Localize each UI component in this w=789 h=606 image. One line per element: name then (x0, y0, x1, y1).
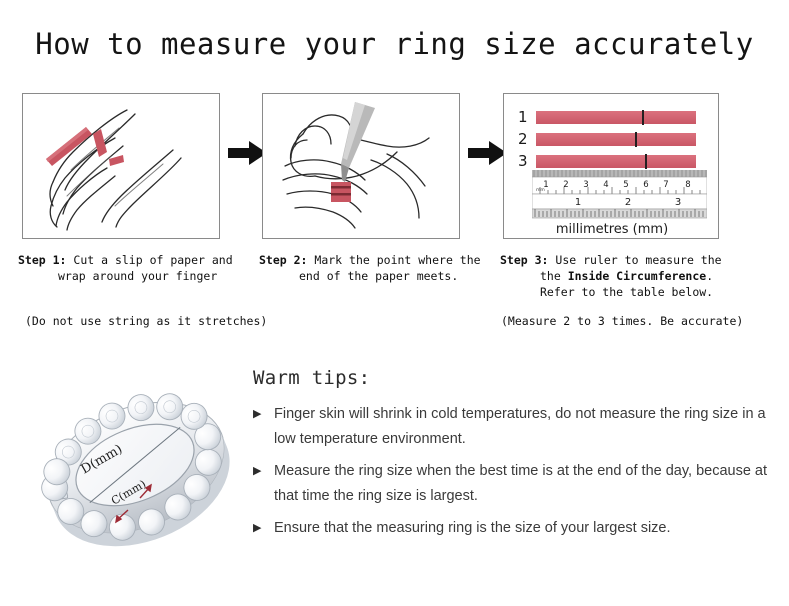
svg-text:2: 2 (625, 197, 631, 208)
warm-tips-list: ▶ Finger skin will shrink in cold temper… (253, 402, 773, 548)
svg-text:7: 7 (663, 180, 668, 190)
bullet-triangle-icon: ▶ (253, 516, 261, 541)
inside-circumference-emphasis: Inside Circumference (568, 269, 706, 283)
step-3-image-panel: 1 2 3 (503, 93, 719, 239)
strip-mark (642, 110, 644, 125)
strip-bar (536, 133, 696, 146)
svg-text:2: 2 (563, 180, 568, 190)
step-3-line2: the Inside Circumference. (500, 268, 760, 284)
tip-text: Ensure that the measuring ring is the si… (274, 520, 671, 536)
step-3-line2-suffix: . (706, 269, 713, 283)
strip-bar (536, 155, 696, 168)
paper-strip-red-marked (331, 182, 351, 202)
measured-strip-row: 1 (518, 108, 696, 126)
strip-number: 1 (518, 108, 536, 126)
page-title: How to measure your ring size accurately (0, 27, 789, 61)
strip-mark (645, 154, 647, 169)
ruler-graphic: 123 456 78 mm 123 (532, 170, 707, 220)
bullet-triangle-icon: ▶ (253, 402, 261, 427)
measured-strip-row: 3 (518, 152, 696, 170)
hand-with-paper-strip-illustration (23, 94, 219, 238)
step-1-line1: Cut a slip of paper and (73, 253, 232, 267)
svg-text:3: 3 (675, 197, 681, 208)
step-1-label: Step 1: (18, 253, 66, 267)
tip-item: ▶ Ensure that the measuring ring is the … (253, 516, 773, 541)
tip-text: Finger skin will shrink in cold temperat… (274, 406, 766, 447)
step-3-caption: Step 3: Use ruler to measure the the Ins… (500, 252, 760, 300)
step-1-line2: wrap around your finger (18, 268, 254, 284)
ring-size-guide-page: How to measure your ring size accurately (0, 0, 789, 606)
ruler-unit-caption: millimetres (mm) (504, 222, 719, 237)
tip-text: Measure the ring size when the best time… (274, 463, 767, 504)
svg-text:6: 6 (643, 180, 648, 190)
strip-number: 3 (518, 152, 536, 170)
warm-tips-heading: Warm tips: (253, 367, 370, 389)
svg-text:8: 8 (685, 180, 690, 190)
hand-marking-paper-with-pen-illustration (263, 94, 459, 238)
bullet-triangle-icon: ▶ (253, 459, 261, 484)
step-2-line2: end of the paper meets. (259, 268, 495, 284)
arrow-step2-to-step3 (468, 140, 508, 166)
strip-number: 2 (518, 130, 536, 148)
step-1-image-panel (22, 93, 220, 239)
strip-bar (536, 111, 696, 124)
svg-text:mm: mm (536, 188, 545, 193)
step-1-note: (Do not use string as it stretches) (25, 314, 267, 328)
step-2-label: Step 2: (259, 253, 307, 267)
step-3-line1: Use ruler to measure the (555, 253, 721, 267)
svg-text:5: 5 (623, 180, 628, 190)
step-3-line2-prefix: the (540, 269, 568, 283)
step-2-line1: Mark the point where the (314, 253, 480, 267)
step-3-line3: Refer to the table below. (500, 284, 760, 300)
tip-item: ▶ Finger skin will shrink in cold temper… (253, 402, 773, 452)
svg-text:1: 1 (575, 197, 581, 208)
svg-text:3: 3 (583, 180, 588, 190)
measured-strip-row: 2 (518, 130, 696, 148)
step-2-image-panel (262, 93, 460, 239)
step-3-label: Step 3: (500, 253, 548, 267)
paper-strip-red (46, 127, 92, 166)
svg-text:4: 4 (603, 180, 608, 190)
strip-mark (635, 132, 637, 147)
step-1-caption: Step 1: Cut a slip of paper and wrap aro… (18, 252, 254, 284)
tip-item: ▶ Measure the ring size when the best ti… (253, 459, 773, 509)
step-2-caption: Step 2: Mark the point where the end of … (259, 252, 495, 284)
step-3-note: (Measure 2 to 3 times. Be accurate) (501, 314, 743, 328)
eternity-ring-photo: D(mm) C(mm) (22, 352, 248, 578)
